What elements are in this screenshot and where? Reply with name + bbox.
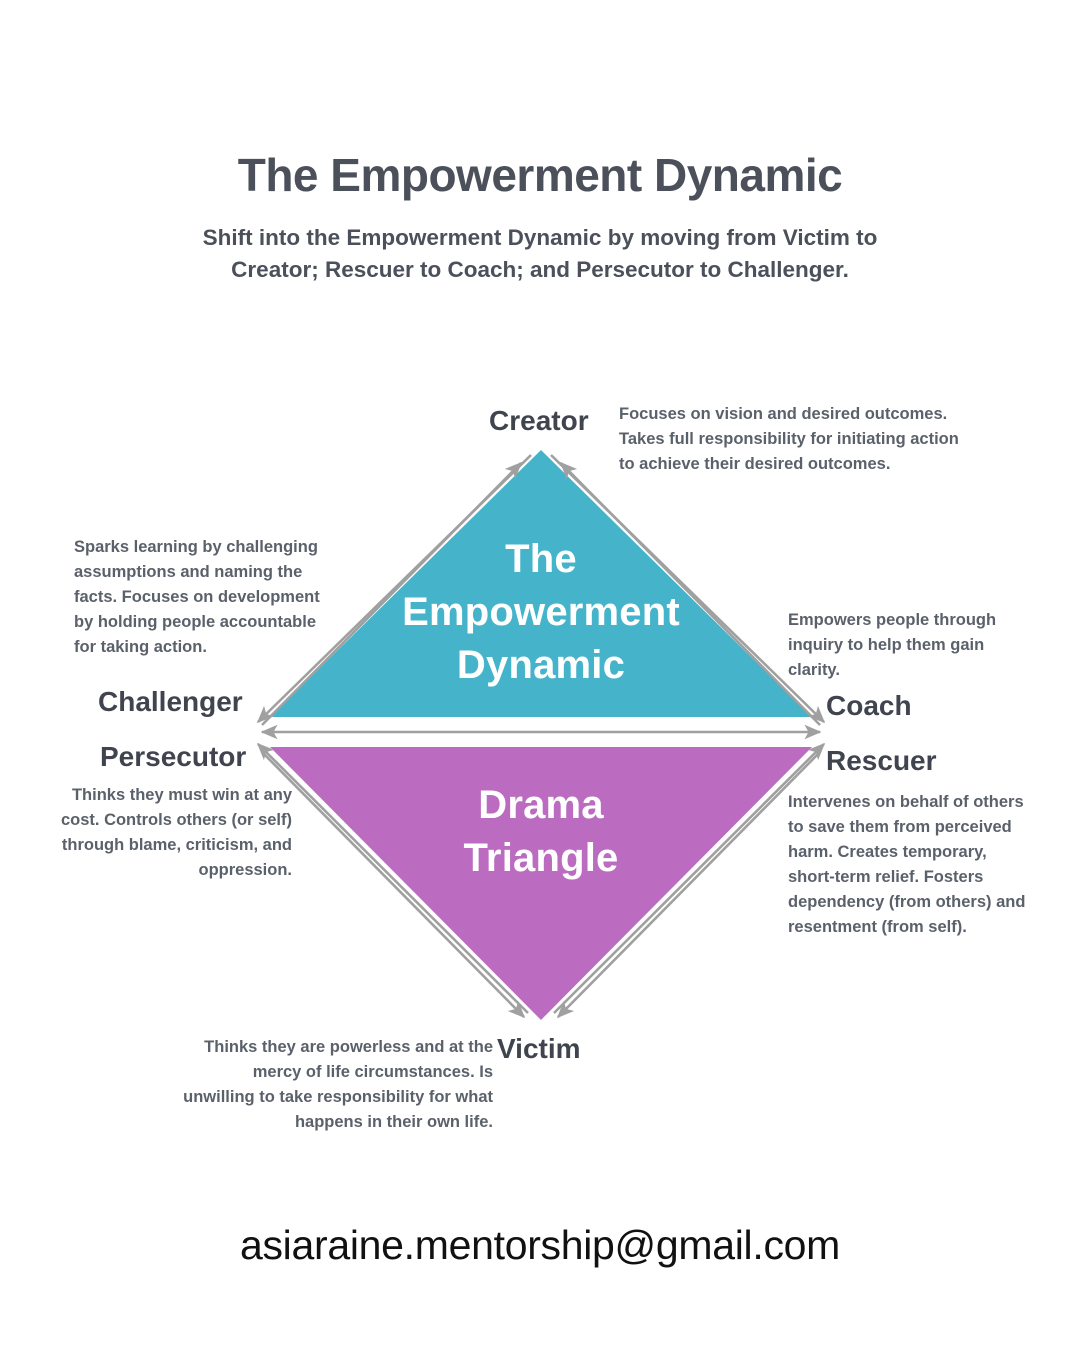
drama-label-line-2: Triangle bbox=[341, 832, 741, 885]
empowerment-label-line-1: The bbox=[341, 533, 741, 586]
role-description-persecutor: Thinks they must win at any cost. Contro… bbox=[34, 783, 292, 883]
role-description-victim: Thinks they are powerless and at the mer… bbox=[178, 1035, 493, 1135]
role-description-challenger: Sparks learning by challenging assumptio… bbox=[74, 535, 339, 660]
role-description-coach: Empowers people through inquiry to help … bbox=[788, 608, 1013, 683]
empowerment-label-line-3: Dynamic bbox=[341, 639, 741, 692]
role-label-rescuer: Rescuer bbox=[826, 745, 937, 777]
role-label-challenger: Challenger bbox=[98, 686, 243, 718]
role-description-rescuer: Intervenes on behalf of others to save t… bbox=[788, 790, 1036, 940]
empowerment-label-line-2: Empowerment bbox=[341, 586, 741, 639]
role-description-creator: Focuses on vision and desired outcomes. … bbox=[619, 402, 959, 477]
poster-canvas: The Empowerment Dynamic Shift into the E… bbox=[0, 0, 1080, 1350]
role-label-persecutor: Persecutor bbox=[100, 741, 246, 773]
empowerment-triangle-label: The Empowerment Dynamic bbox=[341, 533, 741, 692]
role-label-coach: Coach bbox=[826, 690, 912, 722]
contact-email[interactable]: asiaraine.mentorship@gmail.com bbox=[0, 1222, 1080, 1269]
drama-label-line-1: Drama bbox=[341, 779, 741, 832]
role-label-victim: Victim bbox=[497, 1033, 581, 1065]
role-label-creator: Creator bbox=[489, 405, 589, 437]
drama-triangle-label: Drama Triangle bbox=[341, 779, 741, 885]
